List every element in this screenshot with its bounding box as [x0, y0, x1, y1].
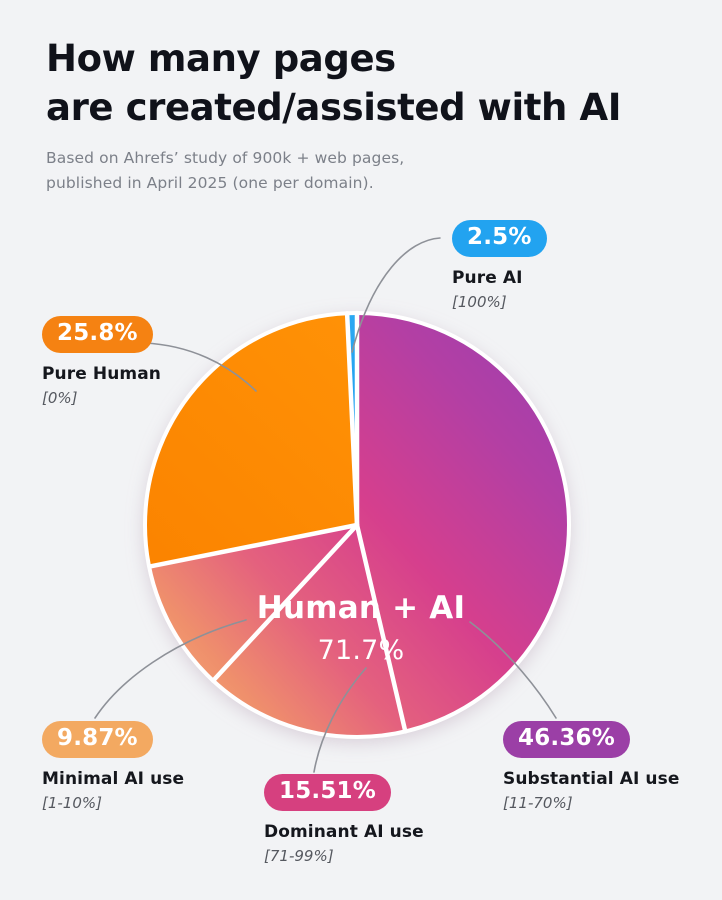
pie-slice-pure-human[interactable] [145, 313, 357, 566]
callout-label-minimal-ai: Minimal AI use [42, 769, 184, 789]
callout-range-pure-human: [0%] [42, 389, 161, 407]
callout-range-minimal-ai: [1-10%] [42, 794, 184, 812]
callout-label-pure-human: Pure Human [42, 364, 161, 384]
badge-minimal-ai: 9.87% [42, 721, 153, 758]
callout-label-substantial-ai: Substantial AI use [503, 769, 679, 789]
badge-dominant-ai: 15.51% [264, 774, 391, 811]
callout-range-pure-ai: [100%] [452, 293, 547, 311]
callout-minimal-ai[interactable]: 9.87% Minimal AI use [1-10%] [42, 721, 184, 812]
callout-range-dominant-ai: [71-99%] [264, 847, 424, 865]
infographic-page: How many pages are created/assisted with… [0, 0, 722, 900]
badge-pure-human: 25.8% [42, 316, 153, 353]
callout-pure-ai[interactable]: 2.5% Pure AI [100%] [452, 220, 547, 311]
callout-label-dominant-ai: Dominant AI use [264, 822, 424, 842]
badge-pure-ai: 2.5% [452, 220, 547, 257]
callout-range-substantial-ai: [11-70%] [503, 794, 679, 812]
callout-substantial-ai[interactable]: 46.36% Substantial AI use [11-70%] [503, 721, 679, 812]
callout-dominant-ai[interactable]: 15.51% Dominant AI use [71-99%] [264, 774, 424, 865]
callout-pure-human[interactable]: 25.8% Pure Human [0%] [42, 316, 161, 407]
callout-label-pure-ai: Pure AI [452, 268, 547, 288]
badge-substantial-ai: 46.36% [503, 721, 630, 758]
